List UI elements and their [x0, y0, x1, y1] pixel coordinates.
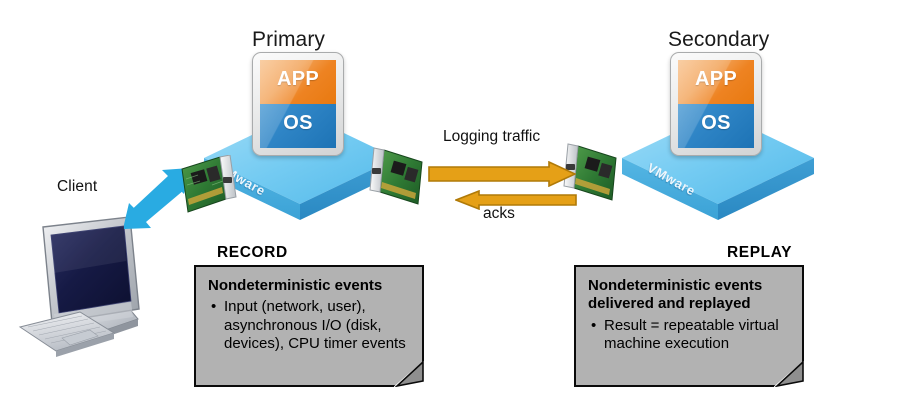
record-note-title: Nondeterministic events — [208, 277, 410, 295]
replay-note-box: Nondeterministic events delivered and re… — [574, 265, 804, 387]
record-note-box: Nondeterministic events Input (network, … — [194, 265, 424, 387]
replay-folded-corner — [774, 361, 804, 387]
client-label: Client — [57, 178, 97, 196]
logging-traffic-arrow — [428, 161, 576, 187]
nic-icon-client-side — [178, 155, 240, 217]
replay-note-title-line2: delivered and replayed — [588, 295, 790, 313]
acks-label: acks — [483, 205, 515, 223]
primary-appos-tile: APP OS — [252, 52, 344, 156]
record-folded-corner — [394, 361, 424, 387]
record-bullet: Input (network, user), asynchronous I/O … — [224, 298, 410, 353]
record-heading: RECORD — [217, 244, 288, 262]
logging-traffic-label: Logging traffic — [443, 128, 540, 146]
primary-tile-gloss — [260, 60, 336, 148]
secondary-label: Secondary — [668, 28, 769, 52]
primary-label: Primary — [252, 28, 325, 52]
nic-icon-primary-network — [366, 146, 428, 208]
replay-bullet: Result = repeatable virtual machine exec… — [604, 317, 790, 354]
replay-note-title-line1: Nondeterministic events — [588, 277, 790, 295]
replay-heading: REPLAY — [727, 244, 792, 262]
secondary-tile-gloss — [678, 60, 754, 148]
acks-arrow — [455, 190, 577, 210]
secondary-vm: VMware APP OS — [618, 52, 818, 222]
secondary-appos-tile: APP OS — [670, 52, 762, 156]
